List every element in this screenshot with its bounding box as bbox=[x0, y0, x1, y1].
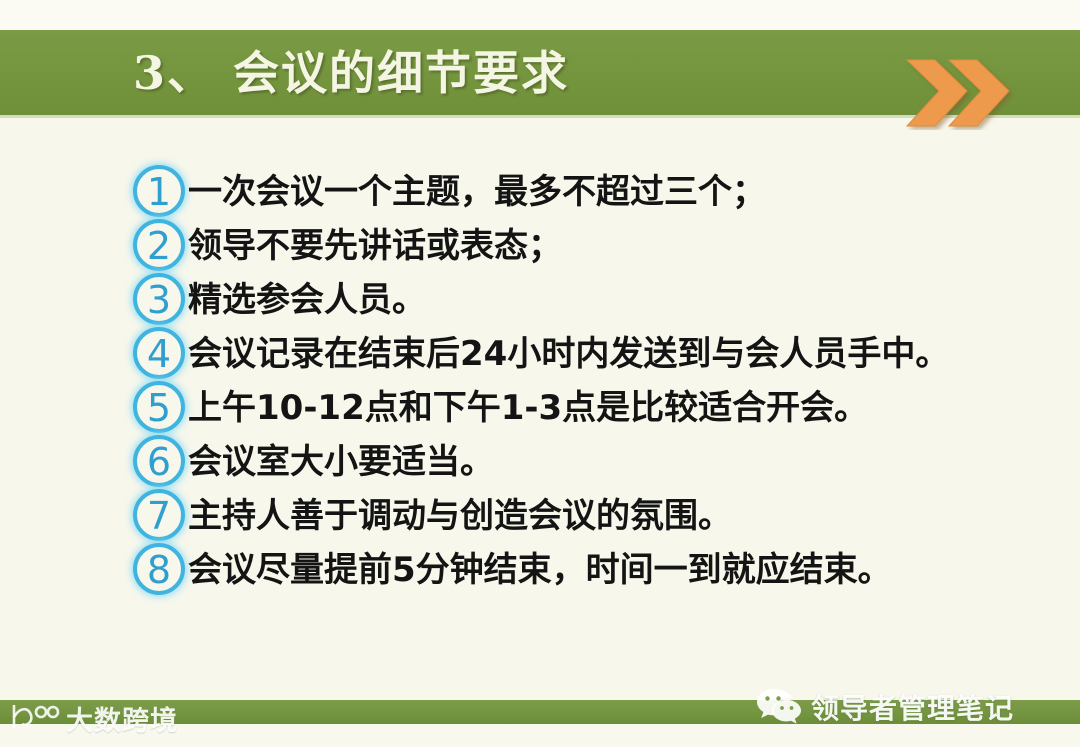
list-number-badge: 5 bbox=[133, 381, 185, 433]
list-number-badge: 6 bbox=[133, 435, 185, 487]
list-item-text: 主持人善于调动与创造会议的氛围。 bbox=[188, 493, 732, 541]
left-watermark: 大数跨境 bbox=[8, 697, 178, 739]
list-item-text: 会议尽量提前5分钟结束，时间一到就应结束。 bbox=[188, 547, 892, 595]
double-chevron-right-icon bbox=[905, 58, 1025, 130]
list-number-badge: 7 bbox=[133, 489, 185, 541]
dashu-kuajing-logo-icon bbox=[8, 699, 60, 737]
page-title: 3、 会议的细节要求 bbox=[133, 36, 569, 110]
list-item-text: 上午10-12点和下午1-3点是比较适合开会。 bbox=[188, 385, 868, 433]
list-item-text: 精选参会人员。 bbox=[188, 277, 426, 325]
presentation-slide: 3、 会议的细节要求 1 一次会议一个主题，最多不超过三个； 2 领导不要先讲话… bbox=[0, 0, 1080, 747]
list-number-badge: 3 bbox=[133, 273, 185, 325]
list-item-text: 一次会议一个主题，最多不超过三个； bbox=[188, 169, 766, 217]
list-number-badge: 2 bbox=[133, 219, 185, 271]
list-number-badge: 8 bbox=[133, 543, 185, 595]
wechat-logo-icon bbox=[756, 686, 802, 728]
wechat-brand: 领导者管理笔记 bbox=[756, 686, 1014, 728]
list-number-badge: 4 bbox=[133, 327, 185, 379]
list-number-badge: 1 bbox=[133, 165, 185, 217]
wechat-brand-text: 领导者管理笔记 bbox=[811, 687, 1014, 727]
list-item-text: 会议记录在结束后24小时内发送到与会人员手中。 bbox=[188, 331, 949, 379]
left-watermark-text: 大数跨境 bbox=[66, 699, 178, 738]
list-item-text: 会议室大小要适当。 bbox=[188, 439, 494, 487]
list-item-text: 领导不要先讲话或表态； bbox=[188, 223, 562, 271]
